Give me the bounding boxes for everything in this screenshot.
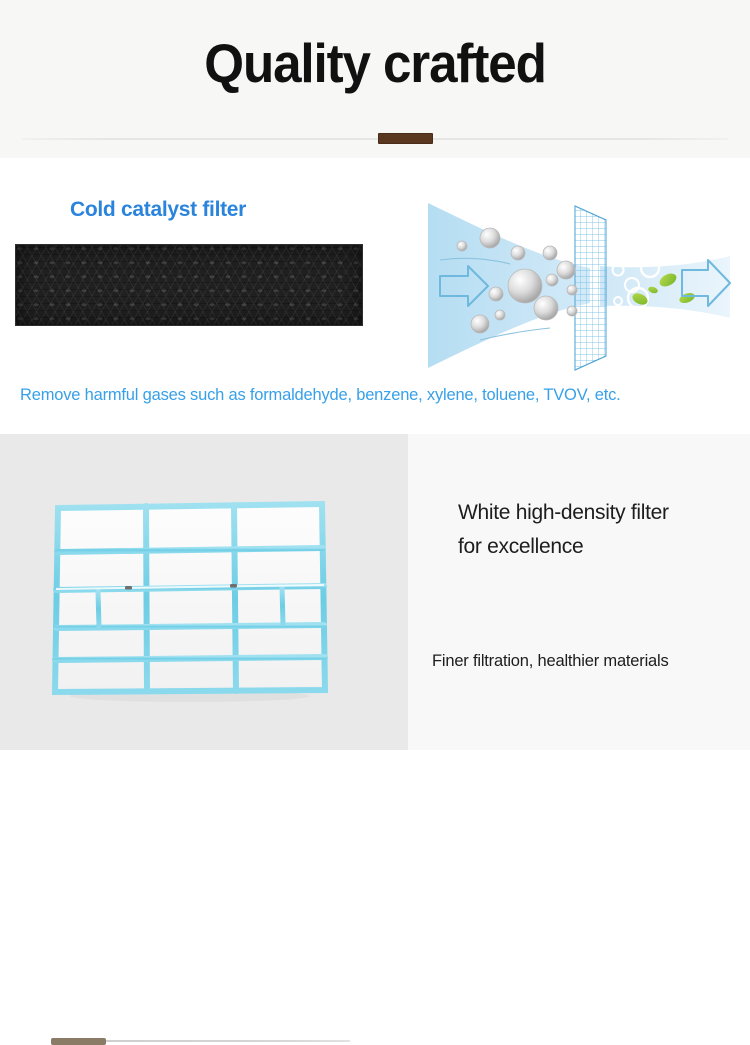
header-accent-bar xyxy=(378,133,433,144)
white-filter-text-panel: White high-density filter for excellence… xyxy=(408,434,750,750)
white-filter-divider-accent xyxy=(51,1038,106,1045)
page-title: Quality crafted xyxy=(26,32,724,95)
cold-catalyst-filter-image xyxy=(15,244,363,326)
cold-catalyst-caption: Remove harmful gases such as formaldehyd… xyxy=(20,386,735,405)
white-filter-divider-line xyxy=(106,1040,350,1042)
white-filter-caption: Finer filtration, healthier materials xyxy=(432,652,750,671)
white-filter-heading-line2: for excellence xyxy=(458,530,743,564)
product-feature-page: Quality crafted Cold catalyst filter xyxy=(0,0,750,750)
white-filter-heading-line1: White high-density filter xyxy=(458,496,743,530)
airflow-diagram xyxy=(400,198,745,373)
white-filter-section: White high-density filter for excellence… xyxy=(0,434,750,750)
white-filter-heading: White high-density filter for excellence xyxy=(458,496,743,564)
white-filter-image-panel xyxy=(0,434,408,750)
white-filter-divider xyxy=(51,1037,350,1045)
white-filter-image xyxy=(40,494,340,704)
header-divider-line xyxy=(22,138,728,140)
filter-mesh-panel xyxy=(575,206,606,370)
header-banner: Quality crafted xyxy=(0,0,750,158)
cold-catalyst-section: Cold catalyst filter xyxy=(0,158,750,434)
cold-catalyst-heading: Cold catalyst filter xyxy=(70,198,246,222)
